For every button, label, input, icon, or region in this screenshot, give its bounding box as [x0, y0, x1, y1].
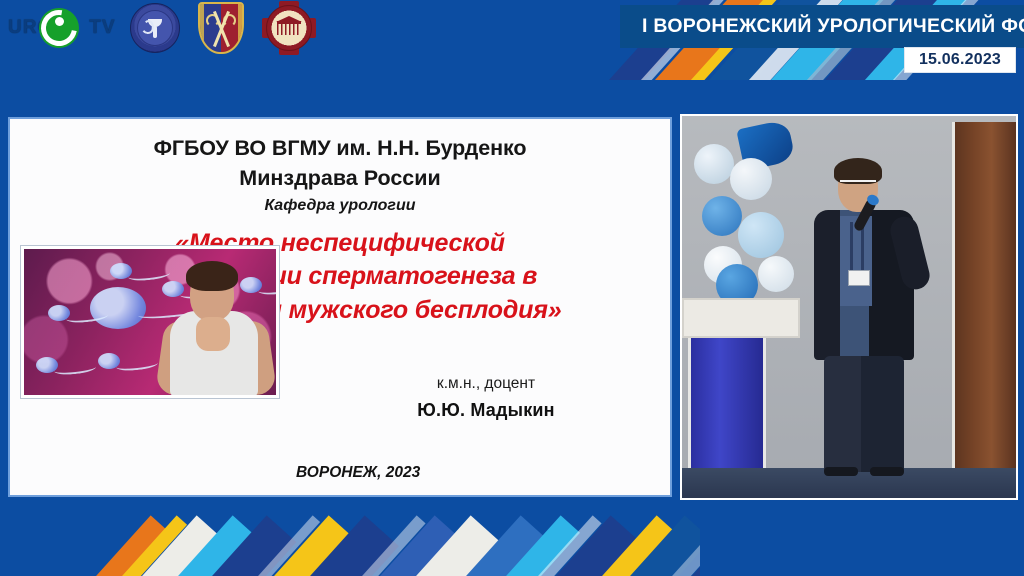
speaker-figure — [798, 158, 930, 472]
slide-header: ФГБОУ ВО ВГМУ им. Н.Н. Бурденко Минздрав… — [10, 119, 670, 215]
balloon — [738, 212, 784, 258]
organization-line-1: ФГБОУ ВО ВГМУ им. Н.Н. Бурденко — [10, 135, 670, 163]
sperm-tail — [54, 362, 97, 376]
urotv-mark-icon — [39, 8, 79, 48]
heraldic-shield-logo — [198, 2, 244, 54]
university-emblem-logo — [262, 1, 316, 55]
broadcast-stage: URO TV — [0, 0, 1024, 576]
top-bar: URO TV — [0, 0, 1024, 112]
shield-band-left — [198, 4, 204, 52]
man-hands — [196, 317, 230, 351]
organization-line-2: Минздрава России — [10, 165, 670, 193]
author-degree: к.м.н., доцент — [346, 375, 626, 393]
forum-title: I ВОРОНЕЖСКИЙ УРОЛОГИЧЕСКИЙ ФОРУМ — [620, 15, 1024, 38]
speaker-photo — [680, 114, 1018, 500]
balloon — [758, 256, 794, 292]
urotv-logo-text-right: TV — [89, 17, 115, 39]
logo-row: URO TV — [8, 2, 316, 54]
speaker-shoe-left — [824, 467, 858, 476]
date-badge: 15.06.2023 — [904, 47, 1016, 73]
shield-band-right — [238, 4, 244, 52]
medical-seal-logo — [130, 3, 180, 53]
department-label: Кафедра урологии — [10, 197, 670, 215]
balloon — [702, 196, 742, 236]
man-figure — [154, 255, 274, 395]
photo-door — [952, 122, 1016, 472]
glasses-icon — [840, 180, 876, 188]
podium-top — [682, 298, 800, 338]
sperm-tail — [116, 358, 159, 372]
podium — [688, 334, 766, 482]
man-hair — [186, 261, 238, 291]
author-name: Ю.Ю. Мадыкин — [346, 400, 626, 421]
forum-banner: I ВОРОНЕЖСКИЙ УРОЛОГИЧЕСКИЙ ФОРУМ — [620, 5, 1024, 48]
emblem-building-icon — [277, 21, 301, 35]
date-badge-text: 15.06.2023 — [919, 51, 1001, 69]
balloon — [694, 144, 734, 184]
balloon — [730, 158, 772, 200]
speaker-shoe-right — [870, 467, 904, 476]
author-block: к.м.н., доцент Ю.Ю. Мадыкин — [346, 375, 626, 421]
speaker-legs — [824, 356, 904, 472]
sperm-head — [90, 287, 146, 329]
city-year-label: ВОРОНЕЖ, 2023 — [296, 464, 420, 482]
presentation-slide: ФГБОУ ВО ВГМУ им. Н.Н. Бурденко Минздрав… — [8, 117, 672, 497]
decorative-stripes-bottom — [0, 496, 700, 576]
urotv-logo: URO TV — [8, 5, 112, 51]
medical-illustration — [21, 246, 279, 398]
speaker-badge — [848, 270, 870, 286]
